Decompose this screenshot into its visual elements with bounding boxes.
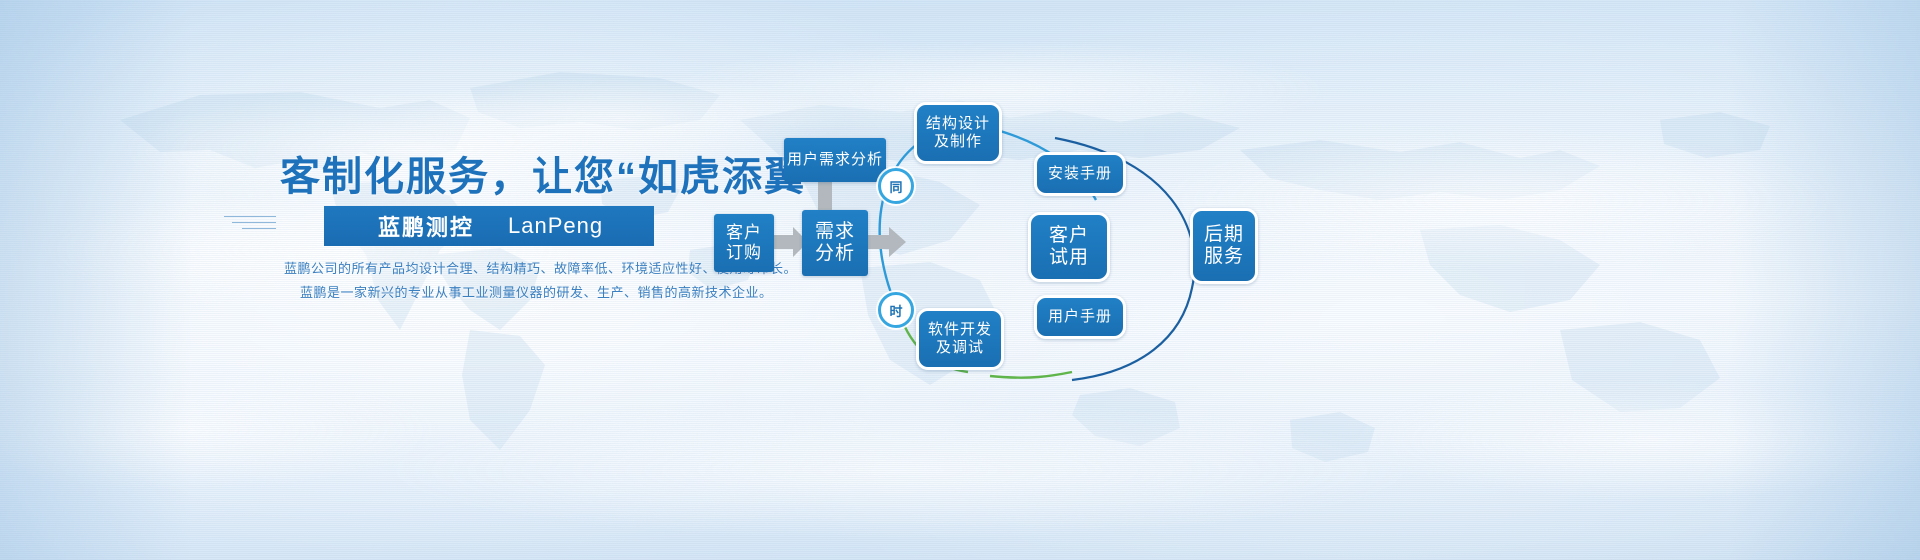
node-after-service[interactable]: 后期服务 — [1190, 208, 1258, 284]
node-label: 用户需求分析 — [787, 151, 883, 169]
brand-name-en: LanPeng — [508, 213, 603, 239]
node-label: 客户订购 — [726, 223, 762, 263]
node-software-dev[interactable]: 软件开发及调试 — [916, 308, 1004, 370]
node-user-manual[interactable]: 用户手册 — [1034, 295, 1126, 339]
node-label: 安装手册 — [1048, 165, 1112, 183]
workflow-diagram: 用户需求分析 客户订购 需求分析 结构设计及制作 软件开发及调试 安装手册 客户… — [700, 80, 1920, 480]
decorative-lines — [224, 216, 280, 238]
node-customer-trial[interactable]: 客户试用 — [1028, 212, 1110, 282]
node-label: 结构设计及制作 — [926, 115, 990, 150]
node-label: 需求分析 — [815, 221, 855, 266]
node-label: 后期服务 — [1204, 224, 1244, 269]
brand-bar: 蓝鹏测控 LanPeng — [324, 206, 654, 246]
node-structure-design[interactable]: 结构设计及制作 — [914, 102, 1002, 164]
marker-tong: 同 — [878, 168, 914, 204]
node-user-demand-analysis[interactable]: 用户需求分析 — [784, 138, 886, 182]
node-demand-analysis[interactable]: 需求分析 — [802, 210, 868, 276]
banner-root: 客制化服务，让您“如虎添翼” 蓝鹏测控 LanPeng 蓝鹏公司的所有产品均设计… — [0, 0, 1920, 560]
arrow-analysis-to-cycle — [867, 225, 907, 259]
marker-label: 同 — [889, 177, 902, 196]
node-label: 客户试用 — [1049, 225, 1089, 270]
node-customer-order[interactable]: 客户订购 — [714, 214, 774, 272]
node-label: 软件开发及调试 — [928, 321, 992, 356]
node-install-manual[interactable]: 安装手册 — [1034, 152, 1126, 196]
node-label: 用户手册 — [1048, 308, 1112, 326]
marker-label: 时 — [889, 301, 902, 320]
brand-name-cn: 蓝鹏测控 — [378, 210, 474, 242]
marker-shi: 时 — [878, 292, 914, 328]
